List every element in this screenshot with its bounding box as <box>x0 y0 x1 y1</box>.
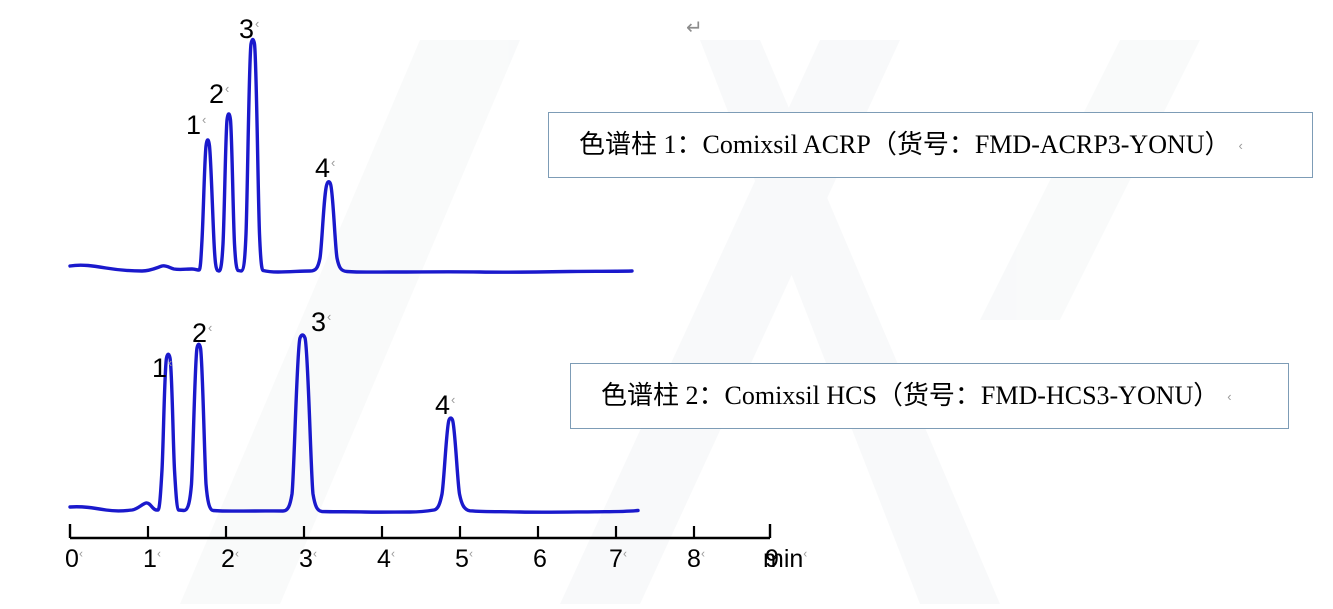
peak-label-top-2: 2‹ <box>209 81 229 108</box>
peak-label-top-1-text: 1 <box>186 110 201 140</box>
format-mark-icon: ‹ <box>255 16 259 31</box>
axis-tick-5-text: 5 <box>455 545 469 573</box>
chromatogram-figure: ↵ 1‹ 2‹ 3‹ 4‹ 1‹ 2‹ 3‹ 4‹ 0‹ 1‹ 2‹ 3‹ 4‹… <box>0 0 1333 604</box>
axis-tick-7-text: 7 <box>609 545 623 573</box>
peak-label-bottom-4-text: 4 <box>435 390 450 420</box>
format-mark-icon: ‹ <box>327 309 331 324</box>
axis-tick-3-text: 3 <box>299 545 313 573</box>
axis-tick-label-6: 6 <box>533 547 547 572</box>
peak-label-bottom-3: 3‹ <box>311 309 331 336</box>
peak-label-top-2-text: 2 <box>209 79 224 109</box>
caption-text-column-1: 色谱柱 1：Comixsil ACRP（货号：FMD-ACRP3-YONU） <box>579 129 1231 160</box>
paragraph-return-mark: ↵ <box>686 17 703 37</box>
format-mark-icon: ‹ <box>1227 389 1231 404</box>
axis-tick-6-text: 6 <box>533 545 547 573</box>
format-mark-icon: ‹ <box>157 547 161 561</box>
peak-label-bottom-4: 4‹ <box>435 392 455 419</box>
format-mark-icon: ‹ <box>202 112 206 127</box>
peak-label-top-3: 3‹ <box>239 16 259 43</box>
format-mark-icon: ‹ <box>168 355 172 370</box>
peak-label-bottom-1-text: 1 <box>152 353 167 383</box>
format-mark-icon: ‹ <box>79 547 83 561</box>
axis-tick-label-5: 5‹ <box>455 547 473 572</box>
axis-tick-2-text: 2 <box>221 545 235 573</box>
axis-tick-label-7: 7‹ <box>609 547 627 572</box>
axis-tick-label-4: 4‹ <box>377 547 395 572</box>
axis-tick-label-8: 8‹ <box>687 547 705 572</box>
format-mark-icon: ‹ <box>1239 138 1243 153</box>
format-mark-icon: ‹ <box>235 547 239 561</box>
format-mark-icon: ‹ <box>803 547 807 561</box>
axis-tick-1-text: 1 <box>143 545 157 573</box>
axis-tick-label-2: 2‹ <box>221 547 239 572</box>
caption-text-column-2: 色谱柱 2：Comixsil HCS（货号：FMD-HCS3-YONU） <box>601 380 1219 411</box>
format-mark-icon: ‹ <box>208 320 212 335</box>
peak-label-top-3-text: 3 <box>239 14 254 44</box>
format-mark-icon: ‹ <box>391 547 395 561</box>
peak-label-top-4-text: 4 <box>315 153 330 183</box>
axis-tick-8-text: 8 <box>687 545 701 573</box>
caption-box-column-1[interactable]: 色谱柱 1：Comixsil ACRP（货号：FMD-ACRP3-YONU） ‹ <box>548 112 1313 178</box>
axis-tick-0-text: 0 <box>65 545 79 573</box>
format-mark-icon: ‹ <box>451 392 455 407</box>
format-mark-icon: ‹ <box>469 547 473 561</box>
peak-label-bottom-1: 1‹ <box>152 355 172 382</box>
format-mark-icon: ‹ <box>225 81 229 96</box>
peak-label-top-1: 1‹ <box>186 112 206 139</box>
format-mark-icon: ‹ <box>331 155 335 170</box>
axis-tick-label-3: 3‹ <box>299 547 317 572</box>
format-mark-icon: ‹ <box>701 547 705 561</box>
axis-unit-label: min‹ <box>763 547 807 572</box>
axis-unit-text: min <box>763 545 803 573</box>
format-mark-icon: ‹ <box>313 547 317 561</box>
peak-label-top-4: 4‹ <box>315 155 335 182</box>
peak-label-bottom-2-text: 2 <box>192 318 207 348</box>
axis-tick-4-text: 4 <box>377 545 391 573</box>
chromatogram-plot <box>0 0 1333 604</box>
x-axis <box>70 524 770 538</box>
axis-tick-label-0: 0‹ <box>65 547 83 572</box>
caption-box-column-2[interactable]: 色谱柱 2：Comixsil HCS（货号：FMD-HCS3-YONU） ‹ <box>570 363 1289 429</box>
peak-label-bottom-3-text: 3 <box>311 307 326 337</box>
peak-label-bottom-2: 2‹ <box>192 320 212 347</box>
axis-tick-label-1: 1‹ <box>143 547 161 572</box>
format-mark-icon: ‹ <box>623 547 627 561</box>
